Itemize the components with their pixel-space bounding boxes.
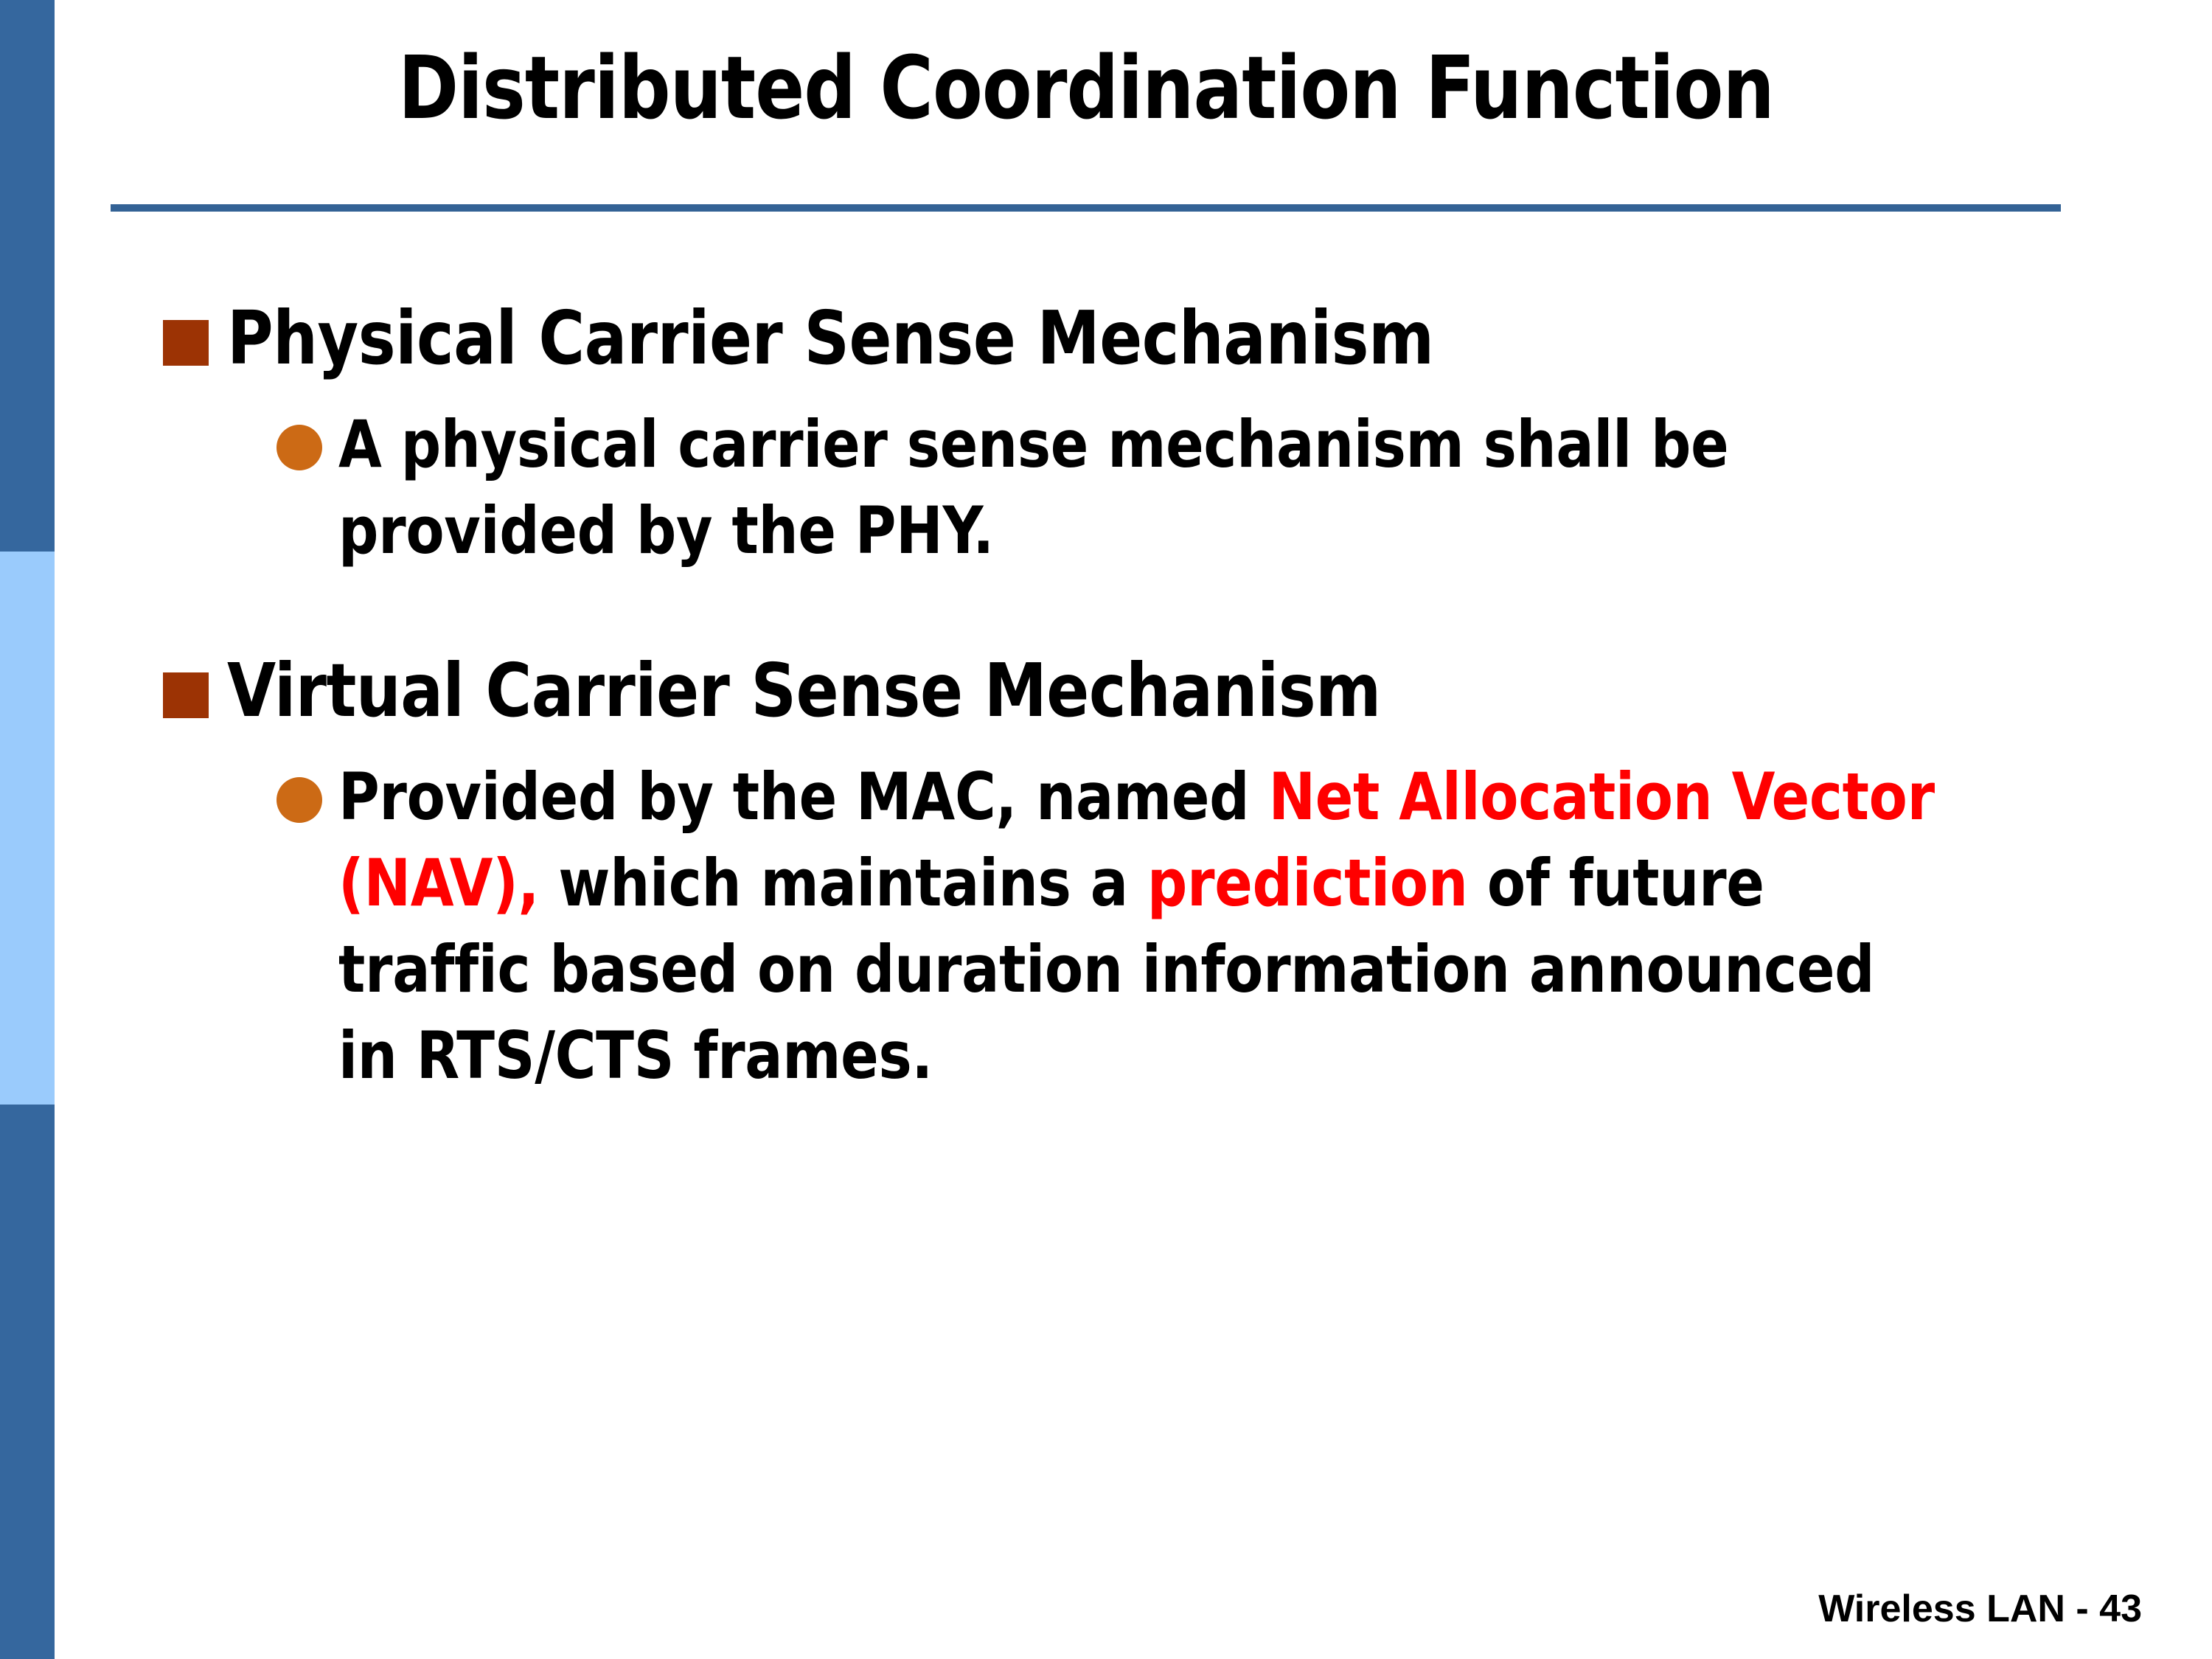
level2-bullet-text-2: Provided by the MAC, named Net Allocatio…	[338, 754, 1938, 1099]
bullet-section-2: Virtual Carrier Sense Mechanism Provided…	[0, 647, 2212, 1099]
dot-bullet-icon	[276, 777, 322, 823]
square-bullet-icon	[163, 672, 209, 718]
sidebar-segment-bottom	[0, 1105, 55, 1659]
level2-bullet-row-1: A physical carrier sense mechanism shall…	[0, 401, 2212, 574]
level1-bullet-row-1: Physical Carrier Sense Mechanism	[0, 295, 2212, 382]
level2-bullet-text-1: A physical carrier sense mechanism shall…	[338, 401, 1938, 574]
highlighted-text-run: prediction	[1147, 845, 1468, 921]
dot-bullet-icon	[276, 425, 322, 470]
text-run: A physical carrier sense mechanism shall…	[338, 406, 1728, 568]
slide-canvas: Distributed Coordination Function Physic…	[0, 0, 2212, 1659]
title-underline-rule	[111, 204, 2061, 212]
slide-body: Physical Carrier Sense Mechanism A physi…	[0, 295, 2212, 1099]
slide-footer: Wireless LAN - 43	[1818, 1587, 2142, 1631]
section-spacer	[0, 574, 2212, 647]
text-run: Provided by the MAC, named	[338, 759, 1268, 835]
level1-bullet-text-1: Physical Carrier Sense Mechanism	[227, 295, 1434, 382]
text-run: which maintains a	[539, 845, 1147, 921]
bullet-section-1: Physical Carrier Sense Mechanism A physi…	[0, 295, 2212, 574]
level2-bullet-row-2: Provided by the MAC, named Net Allocatio…	[0, 754, 2212, 1099]
square-bullet-icon	[163, 320, 209, 366]
slide-title: Distributed Coordination Function	[179, 43, 1994, 134]
level1-bullet-row-2: Virtual Carrier Sense Mechanism	[0, 647, 2212, 734]
level1-bullet-text-2: Virtual Carrier Sense Mechanism	[227, 647, 1381, 734]
